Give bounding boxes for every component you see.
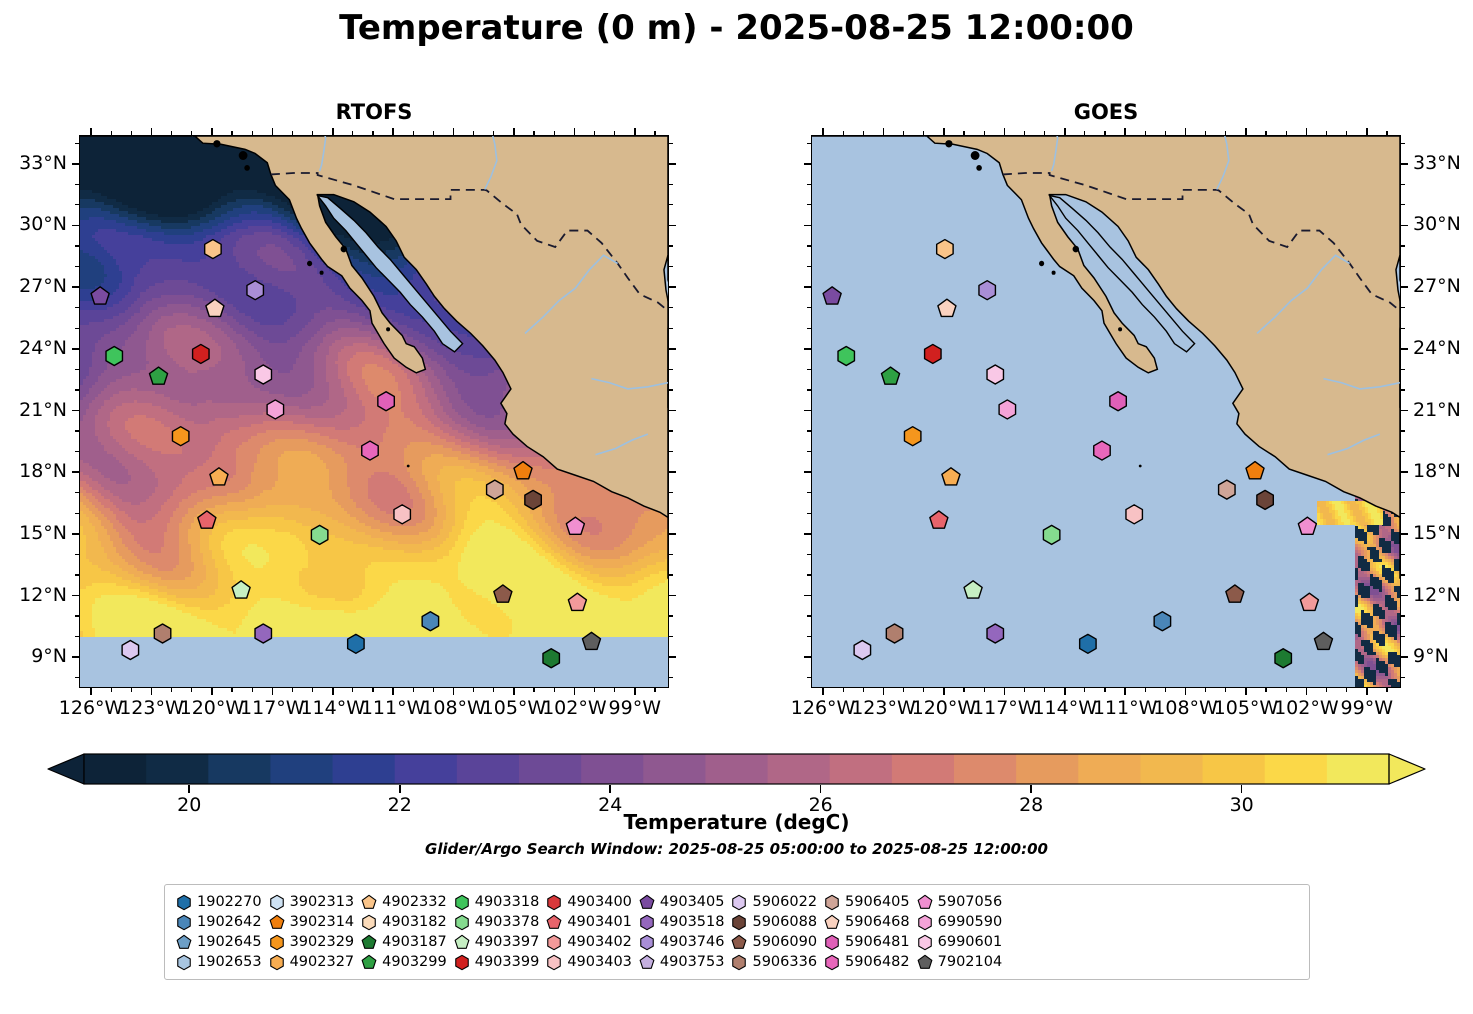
- ytick-label-left: 12°N: [0, 584, 67, 606]
- xtick-minor: [1225, 688, 1226, 692]
- legend-marker-pentagon: [174, 933, 194, 952]
- ytick-minor: [75, 430, 79, 431]
- legend-item[interactable]: 4902327: [266, 952, 359, 972]
- xtick-minor: [903, 688, 904, 692]
- xtick-minor: [654, 688, 655, 692]
- ytick-minor: [75, 677, 79, 678]
- legend-item[interactable]: 5906088: [728, 912, 821, 932]
- legend-item-label: 3902329: [288, 934, 355, 950]
- xtick-minor: [413, 688, 414, 692]
- legend-item[interactable]: 4903402: [543, 932, 636, 952]
- ytick-minor-right: [1401, 307, 1405, 308]
- legend-grid: 1902270190264219026451902653390231339023…: [173, 892, 1006, 972]
- legend-item-label: 6990601: [936, 934, 1003, 950]
- ytick-minor-right: [1401, 615, 1405, 616]
- legend-marker-icon: [358, 932, 380, 952]
- ytick-label-left: 30°N: [0, 213, 67, 235]
- xtick-minor-top: [252, 131, 253, 135]
- ytick-major: [804, 225, 811, 227]
- legend-marker-hexagon: [267, 893, 287, 912]
- legend-marker-pentagon: [915, 893, 935, 912]
- legend-item[interactable]: 3902314: [266, 912, 359, 932]
- legend-item-label: 5906088: [750, 914, 817, 930]
- legend-marker-icon: [914, 932, 936, 952]
- ytick-major: [72, 225, 79, 227]
- colorbar-group: 202224262830 Temperature (degC): [48, 752, 1425, 842]
- legend-item-label: 1902653: [195, 954, 262, 970]
- xtick-minor: [863, 688, 864, 692]
- legend-item[interactable]: 4903405: [636, 892, 729, 912]
- xtick-major-top: [513, 128, 515, 135]
- legend-item[interactable]: 7902104: [914, 952, 1007, 972]
- ytick-minor-right: [669, 574, 673, 575]
- legend-item-label: 4902332: [380, 894, 447, 910]
- ytick-minor-right: [1401, 245, 1405, 246]
- ytick-major-right: [669, 286, 676, 288]
- xtick-minor-top: [1205, 131, 1206, 135]
- ytick-major-right: [669, 348, 676, 350]
- legend-item-label: 4903403: [565, 954, 632, 970]
- ytick-minor: [807, 513, 811, 514]
- xtick-major-top: [151, 128, 153, 135]
- legend-item[interactable]: 5906468: [821, 912, 914, 932]
- legend-marker-pentagon: [359, 953, 379, 972]
- xtick-major: [883, 688, 885, 695]
- ytick-minor: [807, 451, 811, 452]
- ytick-minor: [807, 328, 811, 329]
- legend-marker-icon: [821, 912, 843, 932]
- ytick-label-left: 33°N: [0, 152, 67, 174]
- ytick-minor-right: [669, 677, 673, 678]
- xtick-major-top: [272, 128, 274, 135]
- ytick-minor: [807, 204, 811, 205]
- xtick-minor: [433, 688, 434, 692]
- xtick-major-top: [822, 128, 824, 135]
- legend-marker-icon: [636, 952, 658, 972]
- ytick-minor-right: [1401, 389, 1405, 390]
- ytick-label-right: 24°N: [1413, 337, 1473, 359]
- xtick-major-top: [90, 128, 92, 135]
- legend-marker-hexagon: [359, 913, 379, 932]
- ytick-minor: [75, 204, 79, 205]
- legend-marker-pentagon: [359, 893, 379, 912]
- xtick-minor-top: [292, 131, 293, 135]
- legend-marker-hexagon: [544, 953, 564, 972]
- legend-item-label: 5906022: [750, 894, 817, 910]
- legend-item-label: 4903187: [380, 934, 447, 950]
- xtick-minor-top: [903, 131, 904, 135]
- xtick-minor: [1165, 688, 1166, 692]
- goes-map-svg: [812, 136, 1400, 687]
- xtick-minor: [111, 688, 112, 692]
- xtick-minor-top: [1024, 131, 1025, 135]
- xtick-major-top: [1366, 128, 1368, 135]
- ytick-major: [804, 286, 811, 288]
- legend-marker-icon: [728, 912, 750, 932]
- xtick-minor: [1265, 688, 1266, 692]
- xtick-minor-top: [1386, 131, 1387, 135]
- legend-marker-icon: [728, 892, 750, 912]
- ytick-minor: [807, 430, 811, 431]
- legend-item[interactable]: 4903401: [543, 912, 636, 932]
- legend-item-label: 4903399: [473, 954, 540, 970]
- legend-marker-pentagon: [359, 933, 379, 952]
- legend-item[interactable]: 4903518: [636, 912, 729, 932]
- ytick-minor: [807, 266, 811, 267]
- ytick-major-right: [1401, 348, 1408, 350]
- xtick-minor: [1326, 688, 1327, 692]
- ytick-minor-right: [669, 307, 673, 308]
- ytick-minor-right: [1401, 369, 1405, 370]
- legend-item-label: 1902270: [195, 894, 262, 910]
- legend-item[interactable]: 3902313: [266, 892, 359, 912]
- legend-item[interactable]: 1902642: [173, 912, 266, 932]
- ytick-minor-right: [1401, 204, 1405, 205]
- legend-marker-hexagon: [544, 893, 564, 912]
- legend-marker-icon: [636, 932, 658, 952]
- ytick-label-left: 9°N: [0, 645, 67, 667]
- ytick-minor-right: [669, 204, 673, 205]
- ytick-minor: [807, 389, 811, 390]
- ytick-minor-right: [1401, 328, 1405, 329]
- xtick-major: [1185, 688, 1187, 695]
- ytick-label-left: 27°N: [0, 275, 67, 297]
- legend-item[interactable]: 4903397: [451, 932, 544, 952]
- ytick-minor-right: [1401, 677, 1405, 678]
- ytick-label-right: 18°N: [1413, 460, 1473, 482]
- xtick-minor-top: [111, 131, 112, 135]
- legend-item[interactable]: 4903753: [636, 952, 729, 972]
- xtick-minor-top: [1104, 131, 1105, 135]
- legend-item-label: 4903318: [473, 894, 540, 910]
- legend-item-label: 4903402: [565, 934, 632, 950]
- ytick-major-right: [1401, 656, 1408, 658]
- legend-marker-icon: [266, 912, 288, 932]
- ytick-minor: [75, 492, 79, 493]
- legend-item-label: 5906481: [843, 934, 910, 950]
- map-panel-goes[interactable]: [811, 135, 1401, 688]
- legend-marker-pentagon: [544, 913, 564, 932]
- legend-item[interactable]: 1902645: [173, 932, 266, 952]
- xtick-minor: [473, 688, 474, 692]
- ytick-minor-right: [669, 266, 673, 267]
- ytick-minor-right: [1401, 492, 1405, 493]
- ytick-major: [804, 163, 811, 165]
- ytick-major-right: [669, 225, 676, 227]
- legend-marker-icon: [728, 932, 750, 952]
- ytick-minor-right: [669, 615, 673, 616]
- ytick-major: [72, 656, 79, 658]
- legend-marker-icon: [266, 932, 288, 952]
- legend-item-label: 1902645: [195, 934, 262, 950]
- xtick-minor-top: [473, 131, 474, 135]
- colorbar-tick: [1030, 785, 1032, 793]
- xtick-minor: [1024, 688, 1025, 692]
- ytick-minor-right: [669, 513, 673, 514]
- ytick-major-right: [669, 410, 676, 412]
- xtick-minor: [171, 688, 172, 692]
- xtick-major: [272, 688, 274, 695]
- xtick-minor-top: [493, 131, 494, 135]
- colorbar-gradient: [48, 752, 1425, 786]
- ytick-minor: [75, 513, 79, 514]
- xtick-minor: [372, 688, 373, 692]
- ytick-minor-right: [1401, 451, 1405, 452]
- xtick-label: 99°W: [1331, 697, 1403, 719]
- ytick-minor: [807, 492, 811, 493]
- ytick-major-right: [1401, 595, 1408, 597]
- legend-marker-hexagon: [637, 933, 657, 952]
- legend-item[interactable]: 4902332: [358, 892, 451, 912]
- ytick-minor-right: [669, 328, 673, 329]
- xtick-major-top: [1245, 128, 1247, 135]
- xtick-minor-top: [372, 131, 373, 135]
- ytick-label-left: 24°N: [0, 337, 67, 359]
- ytick-minor: [807, 369, 811, 370]
- xtick-minor: [1205, 688, 1206, 692]
- legend-item-label: 4903401: [565, 914, 632, 930]
- ytick-minor-right: [1401, 554, 1405, 555]
- ytick-major-right: [669, 656, 676, 658]
- legend-item-label: 5906468: [843, 914, 910, 930]
- legend-marker-pentagon: [637, 893, 657, 912]
- xtick-minor: [1044, 688, 1045, 692]
- ytick-minor: [75, 636, 79, 637]
- xtick-major: [513, 688, 515, 695]
- legend-marker-icon: [914, 892, 936, 912]
- legend-item[interactable]: 1902653: [173, 952, 266, 972]
- ytick-minor-right: [669, 369, 673, 370]
- xtick-minor: [554, 688, 555, 692]
- xtick-major: [1306, 688, 1308, 695]
- ytick-major: [72, 163, 79, 165]
- xtick-minor-top: [1165, 131, 1166, 135]
- ytick-minor: [75, 143, 79, 144]
- legend-marker-icon: [266, 892, 288, 912]
- xtick-minor-top: [413, 131, 414, 135]
- legend-item[interactable]: 4903403: [543, 952, 636, 972]
- xtick-minor-top: [614, 131, 615, 135]
- legend-marker-icon: [728, 952, 750, 972]
- xtick-minor-top: [533, 131, 534, 135]
- legend-item[interactable]: 6990590: [914, 912, 1007, 932]
- xtick-minor: [292, 688, 293, 692]
- legend-marker-icon: [636, 892, 658, 912]
- xtick-minor: [131, 688, 132, 692]
- xtick-major: [453, 688, 455, 695]
- ytick-major: [804, 471, 811, 473]
- legend-marker-icon: [821, 932, 843, 952]
- xtick-minor-top: [1286, 131, 1287, 135]
- colorbar-tick: [399, 785, 401, 793]
- legend-marker-icon: [914, 952, 936, 972]
- xtick-major: [634, 688, 636, 695]
- legend-marker-icon: [451, 912, 473, 932]
- xtick-major: [1366, 688, 1368, 695]
- legend-item[interactable]: 4903182: [358, 912, 451, 932]
- ytick-minor-right: [1401, 430, 1405, 431]
- legend-item[interactable]: 6990601: [914, 932, 1007, 952]
- legend-item-label: 5906482: [843, 954, 910, 970]
- legend-item[interactable]: 4903400: [543, 892, 636, 912]
- xtick-minor-top: [1265, 131, 1266, 135]
- legend-item[interactable]: 5906022: [728, 892, 821, 912]
- xtick-minor-top: [1084, 131, 1085, 135]
- legend-item-label: 4903518: [658, 914, 725, 930]
- legend-item[interactable]: 5906336: [728, 952, 821, 972]
- xtick-minor-top: [654, 131, 655, 135]
- ytick-minor: [75, 615, 79, 616]
- map-panel-rtofs[interactable]: [79, 135, 669, 688]
- legend-item-label: 4903400: [565, 894, 632, 910]
- legend-item[interactable]: 5906481: [821, 932, 914, 952]
- ytick-minor-right: [1401, 636, 1405, 637]
- xtick-major: [211, 688, 213, 695]
- ytick-major-right: [669, 533, 676, 535]
- legend-marker-pentagon: [915, 953, 935, 972]
- ytick-minor-right: [669, 636, 673, 637]
- xtick-minor: [1084, 688, 1085, 692]
- ytick-minor: [807, 574, 811, 575]
- xtick-minor-top: [231, 131, 232, 135]
- ytick-minor-right: [669, 492, 673, 493]
- colorbar-label: Temperature (degC): [48, 810, 1425, 834]
- legend-marker-icon: [821, 952, 843, 972]
- legend-item[interactable]: 4903187: [358, 932, 451, 952]
- legend-marker-icon: [173, 892, 195, 912]
- legend-item-label: 4903182: [380, 914, 447, 930]
- legend-item-label: 5906090: [750, 934, 817, 950]
- legend-marker-hexagon: [267, 953, 287, 972]
- ytick-minor: [75, 184, 79, 185]
- ytick-minor: [75, 328, 79, 329]
- ytick-major-right: [1401, 533, 1408, 535]
- legend-item[interactable]: 4903746: [636, 932, 729, 952]
- ytick-label-left: 18°N: [0, 460, 67, 482]
- legend-marker-hexagon: [544, 933, 564, 952]
- ytick-minor: [75, 554, 79, 555]
- legend-marker-hexagon: [729, 953, 749, 972]
- xtick-major: [822, 688, 824, 695]
- legend-item-label: 4902327: [288, 954, 355, 970]
- search-window-note: Glider/Argo Search Window: 2025-08-25 05…: [0, 840, 1473, 858]
- xtick-minor: [252, 688, 253, 692]
- legend-item[interactable]: 5906405: [821, 892, 914, 912]
- legend-item[interactable]: 4903318: [451, 892, 544, 912]
- ytick-minor: [807, 615, 811, 616]
- ytick-minor: [807, 184, 811, 185]
- xtick-minor-top: [352, 131, 353, 135]
- ytick-major: [72, 348, 79, 350]
- legend-item[interactable]: 5907056: [914, 892, 1007, 912]
- xtick-minor-top: [131, 131, 132, 135]
- ytick-minor-right: [669, 451, 673, 452]
- xtick-minor-top: [1044, 131, 1045, 135]
- legend-marker-pentagon: [729, 933, 749, 952]
- ytick-major-right: [1401, 163, 1408, 165]
- legend-item-label: 4903746: [658, 934, 725, 950]
- rtofs-map-svg: [80, 136, 668, 687]
- xtick-major-top: [943, 128, 945, 135]
- ytick-minor-right: [1401, 143, 1405, 144]
- legend-item-label: 5906336: [750, 954, 817, 970]
- platform-legend[interactable]: 1902270190264219026451902653390231339023…: [164, 884, 1310, 980]
- xtick-minor: [963, 688, 964, 692]
- legend-item[interactable]: 3902329: [266, 932, 359, 952]
- xtick-minor-top: [1326, 131, 1327, 135]
- ytick-minor: [75, 369, 79, 370]
- xtick-major: [1124, 688, 1126, 695]
- legend-marker-hexagon: [267, 933, 287, 952]
- ytick-minor: [807, 307, 811, 308]
- ytick-major: [72, 533, 79, 535]
- ytick-label-right: 30°N: [1413, 213, 1473, 235]
- xtick-minor: [594, 688, 595, 692]
- legend-item[interactable]: 1902270: [173, 892, 266, 912]
- xtick-minor: [1386, 688, 1387, 692]
- legend-item[interactable]: 4903378: [451, 912, 544, 932]
- xtick-minor: [923, 688, 924, 692]
- legend-marker-icon: [543, 892, 565, 912]
- xtick-major: [574, 688, 576, 695]
- legend-marker-icon: [173, 932, 195, 952]
- legend-item-label: 3902314: [288, 914, 355, 930]
- legend-marker-pentagon: [822, 913, 842, 932]
- xtick-major: [1064, 688, 1066, 695]
- xtick-major-top: [211, 128, 213, 135]
- legend-item-label: 4903299: [380, 954, 447, 970]
- legend-item[interactable]: 5906482: [821, 952, 914, 972]
- ytick-minor-right: [669, 430, 673, 431]
- ytick-minor-right: [1401, 513, 1405, 514]
- xtick-major: [1004, 688, 1006, 695]
- legend-item[interactable]: 4903399: [451, 952, 544, 972]
- xtick-minor-top: [863, 131, 864, 135]
- legend-item-label: 4903397: [473, 934, 540, 950]
- legend-marker-icon: [173, 912, 195, 932]
- ytick-major-right: [1401, 286, 1408, 288]
- ytick-label-right: 9°N: [1413, 645, 1473, 667]
- legend-marker-hexagon: [174, 893, 194, 912]
- legend-item[interactable]: 4903299: [358, 952, 451, 972]
- xtick-minor-top: [191, 131, 192, 135]
- legend-marker-hexagon: [915, 913, 935, 932]
- legend-marker-icon: [173, 952, 195, 972]
- ytick-minor: [807, 636, 811, 637]
- legend-item[interactable]: 5906090: [728, 932, 821, 952]
- xtick-minor: [352, 688, 353, 692]
- legend-marker-icon: [451, 892, 473, 912]
- figure-title: Temperature (0 m) - 2025-08-25 12:00:00: [0, 8, 1473, 48]
- ytick-minor-right: [669, 184, 673, 185]
- colorbar-tick: [609, 785, 611, 793]
- xtick-minor: [231, 688, 232, 692]
- xtick-label: 99°W: [599, 697, 671, 719]
- xtick-minor: [843, 688, 844, 692]
- xtick-major-top: [1306, 128, 1308, 135]
- xtick-major-top: [883, 128, 885, 135]
- legend-marker-pentagon: [267, 913, 287, 932]
- xtick-minor: [1145, 688, 1146, 692]
- xtick-minor-top: [312, 131, 313, 135]
- ytick-minor: [75, 389, 79, 390]
- xtick-minor: [984, 688, 985, 692]
- ytick-minor: [75, 307, 79, 308]
- xtick-major: [943, 688, 945, 695]
- xtick-minor: [493, 688, 494, 692]
- ytick-major: [72, 471, 79, 473]
- xtick-minor: [1104, 688, 1105, 692]
